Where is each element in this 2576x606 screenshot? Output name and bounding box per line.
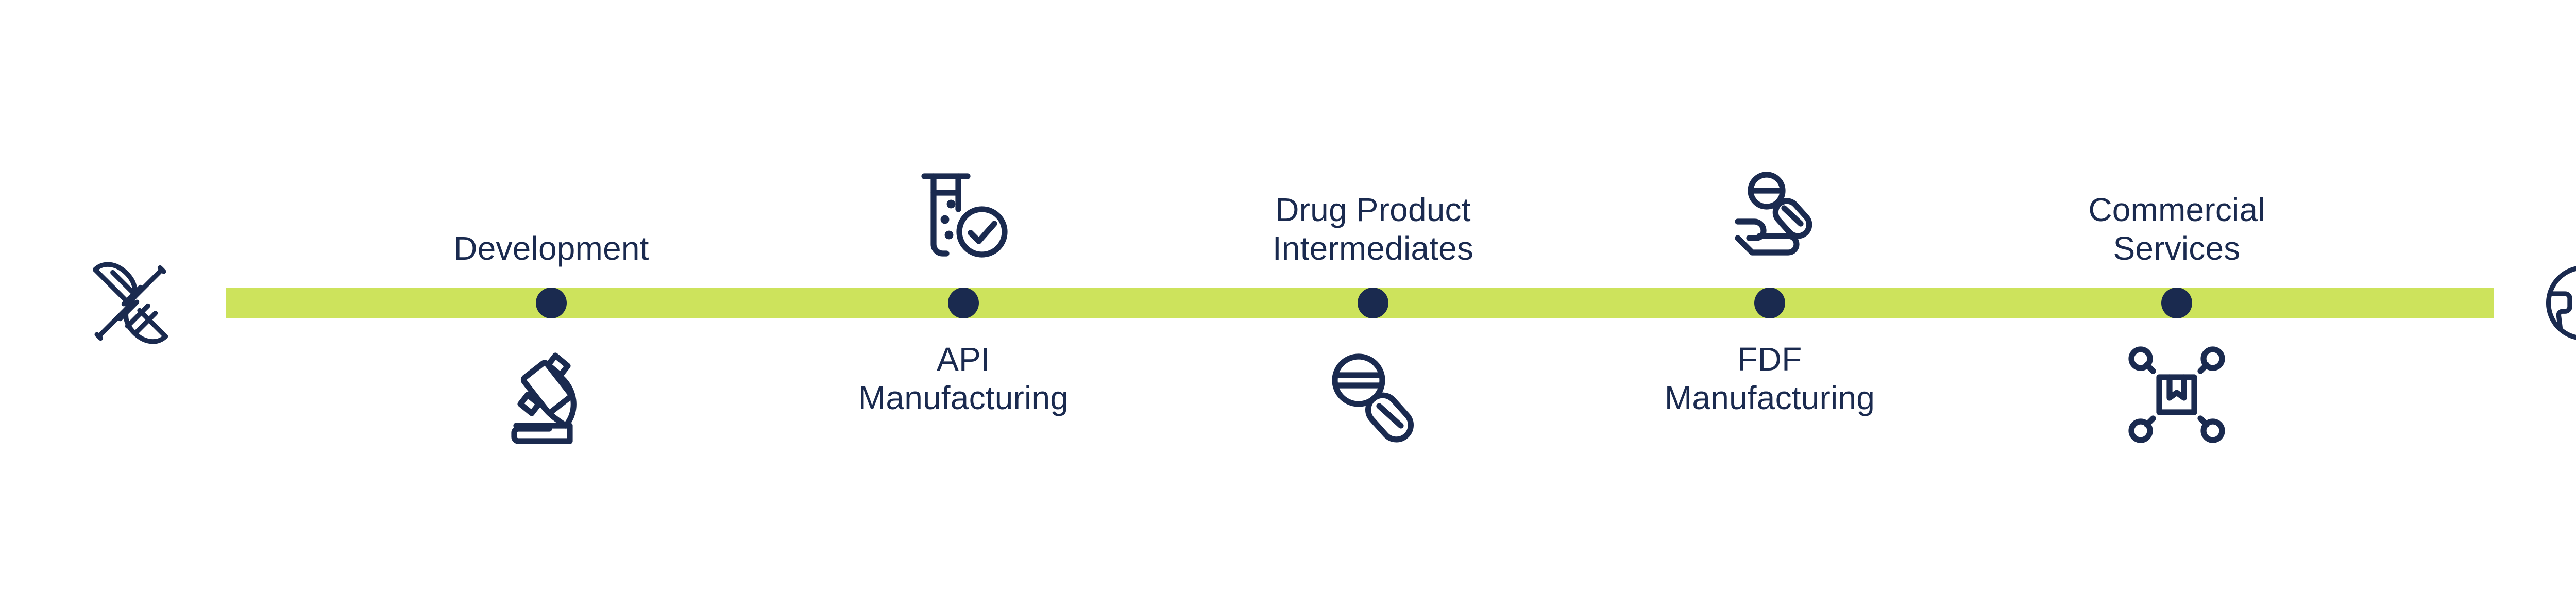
stage-4-top-slot xyxy=(1589,31,1950,268)
stage-1-bottom-slot xyxy=(371,340,732,567)
globe-icon xyxy=(2535,257,2576,349)
stage-3-bottom-slot xyxy=(1193,340,1553,567)
stage-1-label: Development xyxy=(453,229,649,268)
stage-2-top-slot xyxy=(783,31,1144,268)
stage-4-bottom-slot: FDF Manufacturing xyxy=(1589,340,1950,567)
stage-3-top-slot: Drug Product Intermediates xyxy=(1193,31,1553,268)
stage-3-label: Drug Product Intermediates xyxy=(1273,191,1473,268)
package-distribution-icon xyxy=(2125,343,2228,446)
stage-5-bottom-slot xyxy=(1996,340,2357,567)
timeline-node-5[interactable] xyxy=(2161,288,2192,318)
timeline-node-1[interactable] xyxy=(536,288,567,318)
stage-5-label: Commercial Services xyxy=(2088,191,2265,268)
test-tube-check-icon xyxy=(912,162,1015,265)
dna-helix-icon xyxy=(81,257,179,349)
process-timeline-diagram: Development xyxy=(0,0,2576,606)
hand-holding-pills-icon xyxy=(1718,162,1821,265)
stage-4-label: FDF Manufacturing xyxy=(1665,340,1875,417)
timeline-node-4[interactable] xyxy=(1754,288,1785,318)
stage-2-bottom-slot: API Manufacturing xyxy=(783,340,1144,567)
stage-5-top-slot: Commercial Services xyxy=(1996,31,2357,268)
stage-1-top-slot: Development xyxy=(371,31,732,268)
timeline-node-3[interactable] xyxy=(1358,288,1388,318)
pills-icon xyxy=(1321,343,1425,446)
timeline-node-2[interactable] xyxy=(948,288,979,318)
microscope-icon xyxy=(500,343,603,446)
stage-2-label: API Manufacturing xyxy=(858,340,1069,417)
